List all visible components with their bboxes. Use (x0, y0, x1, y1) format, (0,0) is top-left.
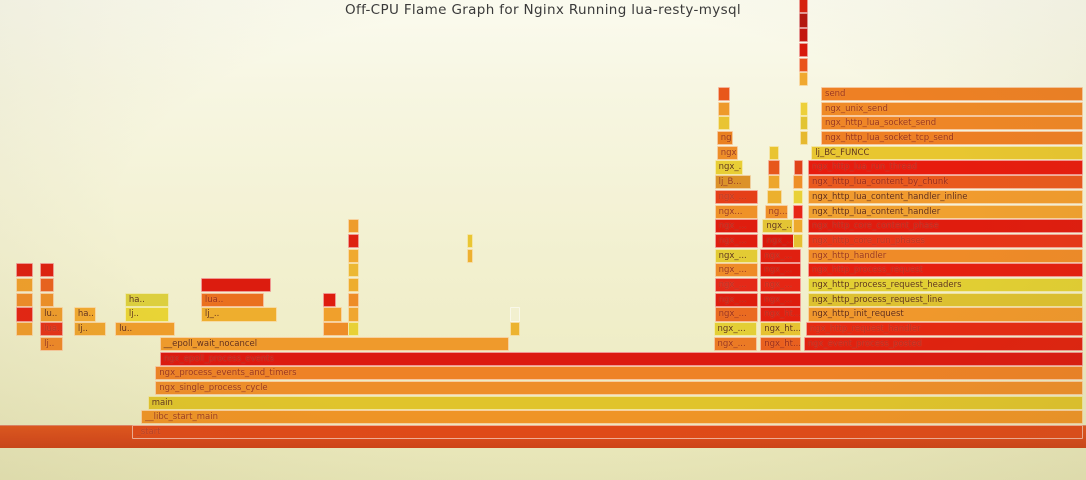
flame-frame[interactable] (799, 28, 808, 42)
flame-frame-label: ngx_http_handler (812, 251, 886, 261)
flame-frame[interactable] (793, 175, 803, 189)
flame-frame-ng[interactable] (767, 190, 782, 204)
flame-frame[interactable] (16, 307, 32, 321)
flame-frame-ngx-ht[interactable]: ngx_ht... (760, 322, 801, 336)
flame-frame-label: ngx_... (719, 236, 747, 246)
flame-frame-label: ha.. (78, 309, 94, 319)
flame-frame-label: _start (136, 427, 160, 437)
flame-frame-ngx-process-events-and-timers[interactable]: ngx_process_events_and_timers (155, 366, 1082, 380)
flame-frame[interactable] (510, 307, 520, 321)
flame-frame-label: ngx_http_lua_content_by_chunk (812, 177, 948, 187)
flame-frame-ngx[interactable]: ngx_... (715, 293, 758, 307)
flame-frame-label: ngx_epoll_process_events (164, 354, 274, 364)
flame-frame-ngx-unix-send[interactable]: ngx_unix_send (821, 102, 1083, 116)
flame-frame-ngx[interactable]: ngx_... (760, 263, 801, 277)
flame-frame[interactable] (800, 116, 808, 130)
flame-frame-ngx-http-lua-content-by-chunk[interactable]: ngx_http_lua_content_by_chunk (808, 175, 1083, 189)
flame-frame[interactable] (348, 249, 360, 263)
flame-frame-label: ngx.. (721, 148, 739, 158)
flame-frame[interactable] (799, 72, 808, 86)
flame-frame-ngx-ht[interactable]: ngx_ht... (760, 307, 801, 321)
flame-frame-ngx-http-process-request-line[interactable]: ngx_http_process_request_line (808, 293, 1083, 307)
flame-frame-start[interactable]: _start (132, 425, 1082, 439)
flame-frame[interactable] (40, 263, 54, 277)
flame-frame-ngx[interactable]: ngx_... (715, 160, 743, 174)
flame-frame[interactable] (800, 102, 808, 116)
flame-frame-label: lj_.. (205, 309, 219, 319)
flame-frame-ngx-ht[interactable]: ngx_ht... (760, 337, 801, 351)
flame-frame-label: ngx_http_lua_run_thread (812, 162, 917, 172)
flame-frame-label: ngx_... (719, 265, 747, 275)
flame-frame-ngx[interactable]: ngx_... (715, 219, 758, 233)
flame-frame-libc-start-main[interactable]: __libc_start_main (141, 410, 1083, 424)
flame-frame[interactable] (40, 293, 54, 307)
flame-frame[interactable] (348, 263, 360, 277)
flame-frame-ngx[interactable]: ngx_... (715, 249, 758, 263)
flame-frame-main[interactable]: main (148, 396, 1083, 410)
flame-frame-ngx-http-lua-content-handler[interactable]: ngx_http_lua_content_handler (808, 205, 1083, 219)
flame-frame-ngx-single-process-cycle[interactable]: ngx_single_process_cycle (155, 381, 1082, 395)
flame-frame-label: ngx_ht... (764, 324, 801, 334)
flame-frame-ng[interactable]: ng.. (717, 131, 733, 145)
flame-frame[interactable] (16, 322, 32, 336)
flame-frame[interactable] (201, 278, 272, 292)
flame-frame-send[interactable]: send (821, 87, 1083, 101)
flame-frame-label: ngx_... (764, 251, 792, 261)
flame-frame-ngx[interactable]: ngx_... (760, 278, 801, 292)
flame-frame-label: ngx_ht... (764, 339, 801, 349)
flame-frame-label: ngx_ht... (764, 309, 801, 319)
flame-frame-label: lj.. (129, 309, 139, 319)
flame-frame[interactable] (769, 146, 779, 160)
flame-frame-label: ngx_event_process_posted (808, 339, 922, 349)
flame-frame-label: ngx_http_core_run_phases (812, 236, 925, 246)
flame-frame-label: ngx_... (719, 309, 747, 319)
flame-frame-label: lu.. (119, 324, 132, 334)
flame-frame-label: ngx_... (719, 251, 747, 261)
flame-frame-ngx-http-lua-content-handler-inline[interactable]: ngx_http_lua_content_handler_inline (808, 190, 1083, 204)
flame-frame[interactable] (768, 175, 780, 189)
flame-frame-lj-b[interactable]: lj_B... (715, 175, 752, 189)
flame-frame[interactable] (323, 307, 343, 321)
flame-frame-lua[interactable]: lua.. (201, 293, 264, 307)
flame-frame[interactable] (16, 263, 32, 277)
flame-frame-label: ngx_http_lua_socket_tcp_send (825, 133, 954, 143)
flame-frame-label: main (152, 398, 173, 408)
flame-frame-label: lj.. (78, 324, 88, 334)
flame-frame-ngx-http-handler[interactable]: ngx_http_handler (808, 249, 1083, 263)
flame-graph: Off-CPU Flame Graph for Nginx Running lu… (0, 0, 1086, 480)
flame-frame[interactable] (348, 307, 360, 321)
flame-frame-label: ngx_http_request_handler (810, 324, 921, 334)
flame-frame[interactable] (467, 249, 474, 263)
flame-frame[interactable] (16, 278, 32, 292)
flame-frame-ngx-http-lua-socket-tcp-send[interactable]: ngx_http_lua_socket_tcp_send (821, 131, 1083, 145)
flame-frame-label: __epoll_wait_nocancel (164, 339, 258, 349)
flame-frame-label: ngx_process_events_and_timers (159, 368, 296, 378)
flame-frame-ngx-http-core-run-phases[interactable]: ngx_http_core_run_phases (808, 234, 1083, 248)
flame-frame[interactable] (794, 160, 803, 174)
flame-frame-label: ngx_... (719, 221, 747, 231)
flame-frame-ngx-http-lua-socket-send[interactable]: ngx_http_lua_socket_send (821, 116, 1083, 130)
flame-frame-ng[interactable]: ng... (765, 205, 789, 219)
flame-frame-label: ngx_http_init_request (812, 309, 904, 319)
flame-frame-ngx[interactable]: ngx.. (717, 146, 739, 160)
flame-frame-label: ngx_http_lua_content_handler_inline (812, 192, 968, 202)
flame-frame-ngx-epoll-process-events[interactable]: ngx_epoll_process_events (160, 352, 1083, 366)
flame-frame[interactable] (348, 219, 360, 233)
flame-frame-label: lua.. (44, 324, 62, 334)
flame-frame-lj-bc-funcc[interactable]: lj_BC_FUNCC (811, 146, 1083, 160)
flame-frame-label: send (825, 89, 845, 99)
flame-frame[interactable] (16, 293, 32, 307)
flame-frame-lj[interactable]: lj.. (74, 322, 107, 336)
flame-frame[interactable] (40, 278, 54, 292)
flame-frame-label: ngx_http_core_content_phase (812, 221, 939, 231)
flame-frame-ngx[interactable]: ngx_... (715, 278, 758, 292)
page-title: Off-CPU Flame Graph for Nginx Running lu… (0, 2, 1086, 18)
flame-frame-label: ngx_unix_send (825, 104, 888, 114)
flame-frame[interactable] (800, 131, 808, 145)
flame-frame-ngx-http-process-request[interactable]: ngx_http_process_request (808, 263, 1083, 277)
flame-frame-lj[interactable]: lj.. (125, 307, 170, 321)
flame-frame-label: ng.. (721, 133, 733, 143)
flame-frame-ngx-http-lua-run-thread[interactable]: ngx_http_lua_run_thread (808, 160, 1083, 174)
flame-frame[interactable] (793, 205, 803, 219)
flame-frame-ngx[interactable]: ngx_... (714, 322, 757, 336)
flame-frame[interactable] (718, 102, 730, 116)
flame-frame[interactable] (793, 190, 803, 204)
flame-frame[interactable] (799, 13, 808, 27)
flame-frame-label: ngx_... (719, 162, 743, 172)
flame-frame-label: ngx_... (718, 339, 746, 349)
flame-frame-label: ngx_... (766, 221, 792, 231)
flame-frame-label: ngx_http_process_request (812, 265, 923, 275)
flame-frame-ha[interactable]: ha.. (74, 307, 96, 321)
flame-frame-label: lj.. (44, 339, 54, 349)
flame-frame-ngx[interactable]: ngx_... (714, 337, 757, 351)
flame-frame[interactable] (799, 0, 808, 13)
flame-frame-label: ngx_... (718, 324, 746, 334)
flame-frame-ngx[interactable]: ngx_... (760, 249, 801, 263)
flame-frame[interactable] (348, 234, 360, 248)
flame-frame[interactable] (348, 278, 360, 292)
flame-frame-label: ngx_... (764, 265, 792, 275)
flame-frame-label: ngx_http_lua_content_handler (812, 207, 940, 217)
flame-frame[interactable] (323, 322, 350, 336)
flame-frame-ngx-http-request-handler[interactable]: ngx_http_request_handler (806, 322, 1083, 336)
flame-frame-label: ngx_... (719, 295, 747, 305)
flame-frame-label: ngx_http_process_request_line (812, 295, 943, 305)
flame-frame-label: lu.. (44, 309, 57, 319)
flame-frame-label: ngx_... (764, 280, 792, 290)
flame-frame-label: lj_B... (719, 177, 742, 187)
flame-frame-epoll-wait-nocancel[interactable]: __epoll_wait_nocancel (160, 337, 510, 351)
flame-frame[interactable] (348, 293, 360, 307)
flame-frame[interactable] (718, 116, 730, 130)
flame-frame-ngx-http-process-request-headers[interactable]: ngx_http_process_request_headers (808, 278, 1083, 292)
flame-frame[interactable] (718, 87, 730, 101)
flame-frame-lj[interactable]: lj.. (40, 337, 63, 351)
flame-frame[interactable] (768, 160, 780, 174)
flame-frame-label: lua.. (205, 295, 223, 305)
flame-frame-label: __libc_start_main (145, 412, 218, 422)
flame-frame[interactable] (323, 293, 336, 307)
flame-frame-label: lj_BC_FUNCC (815, 148, 869, 158)
flame-frame[interactable] (793, 234, 803, 248)
flame-frame-ngx-event-process-posted[interactable]: ngx_event_process_posted (804, 337, 1083, 351)
flame-frame-label: ngx... (719, 207, 743, 217)
flame-frame-ngx[interactable]: ngx_... (715, 234, 758, 248)
flame-frame-label: ha.. (129, 295, 145, 305)
flame-frame[interactable] (793, 219, 803, 233)
flame-frame[interactable] (510, 322, 520, 336)
flame-frame[interactable] (467, 234, 474, 248)
flame-frame-label: ngx_... (764, 295, 792, 305)
flame-frame-label: ngx_http_process_request_headers (812, 280, 962, 290)
flame-frame[interactable] (348, 322, 360, 336)
flame-frame-lua[interactable]: lua.. (40, 322, 63, 336)
flame-frame-label: ng... (769, 207, 788, 217)
flame-frame-ngx-http-core-content-phase[interactable]: ngx_http_core_content_phase (808, 219, 1083, 233)
flame-frame-label: ngx_... (766, 236, 794, 246)
flame-frame-lu[interactable]: lu.. (40, 307, 63, 321)
flame-frame-ngx[interactable]: ngx_... (715, 263, 758, 277)
flame-frame-ngx[interactable]: ngx... (715, 205, 758, 219)
flame-frame-lu[interactable]: lu.. (115, 322, 175, 336)
flame-frame-ha[interactable]: ha.. (125, 293, 170, 307)
flame-frame-lj[interactable]: lj_.. (201, 307, 277, 321)
flame-frame-label: ngx_... (719, 280, 747, 290)
flame-frame-ngx[interactable]: ngx_... (715, 307, 758, 321)
flame-frame-ngx[interactable]: ngx_... (762, 219, 792, 233)
flame-frame[interactable] (799, 43, 808, 57)
flame-frame[interactable] (799, 58, 808, 72)
flame-frame-ngx[interactable]: ngx_... (760, 293, 801, 307)
flame-frame-ngx-http-init-request[interactable]: ngx_http_init_request (808, 307, 1083, 321)
flame-frame-label: ngx_single_process_cycle (159, 383, 267, 393)
flame-frame-label: ngx_http_lua_socket_send (825, 118, 936, 128)
flame-frame-ngx[interactable]: ngx_... (715, 190, 758, 204)
flame-frame-label: ngx_... (719, 192, 747, 202)
